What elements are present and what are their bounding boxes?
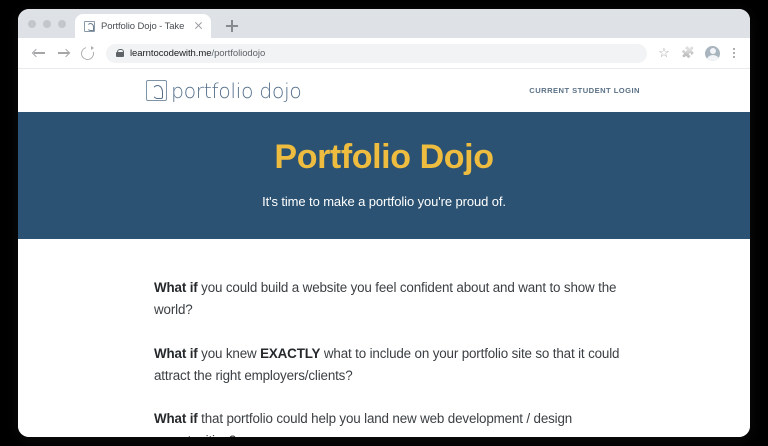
site-header: portfolio dojo CURRENT STUDENT LOGIN (18, 69, 750, 112)
tab-close-icon[interactable] (192, 20, 204, 32)
window-traffic-lights (26, 9, 75, 38)
three-dot-menu-icon[interactable] (726, 42, 742, 64)
page-title: Portfolio Dojo (58, 138, 710, 177)
portfolio-dojo-mark-icon (146, 80, 167, 101)
site-logo[interactable]: portfolio dojo (146, 79, 301, 103)
star-icon[interactable] (653, 42, 675, 64)
lock-icon (116, 49, 124, 58)
paragraph-mid: you knew (198, 346, 261, 361)
profile-avatar[interactable] (705, 46, 720, 61)
paragraph-lead: What if (154, 346, 198, 361)
browser-window: Portfolio Dojo - Take your port learntoc… (18, 9, 750, 437)
paragraph-emphasis: EXACTLY (260, 346, 320, 361)
paragraph-rest: that portfolio could help you land new w… (154, 411, 572, 437)
puzzle-piece-icon[interactable] (677, 42, 699, 64)
current-student-login-link[interactable]: CURRENT STUDENT LOGIN (529, 86, 640, 95)
paragraph-lead: What if (154, 411, 198, 426)
tab-favicon-icon (84, 21, 95, 32)
address-bar[interactable]: learntocodewith.me/portfoliodojo (106, 44, 647, 63)
browser-tab[interactable]: Portfolio Dojo - Take your port (75, 14, 211, 38)
url-domain: learntocodewith.me (130, 48, 211, 59)
copy-paragraph: What if you could build a website you fe… (154, 277, 622, 321)
url-path: /portfoliodojo (211, 48, 265, 59)
back-arrow-icon[interactable] (28, 42, 50, 64)
tab-strip: Portfolio Dojo - Take your port (18, 9, 750, 38)
browser-toolbar: learntocodewith.me/portfoliodojo (18, 38, 750, 69)
site-logo-text: portfolio dojo (171, 79, 301, 103)
paragraph-rest: you could build a website you feel confi… (154, 280, 616, 317)
maximize-window-button[interactable] (58, 20, 66, 28)
new-tab-button[interactable] (220, 14, 244, 38)
tab-title: Portfolio Dojo - Take your port (101, 21, 186, 32)
forward-arrow-icon[interactable] (52, 42, 74, 64)
close-window-button[interactable] (28, 20, 36, 28)
page-viewport: portfolio dojo CURRENT STUDENT LOGIN Por… (18, 69, 750, 437)
paragraph-lead: What if (154, 280, 198, 295)
hero-subtitle: It's time to make a portfolio you're pro… (58, 194, 710, 209)
copy-paragraph: What if that portfolio could help you la… (154, 408, 622, 437)
content-body: What if you could build a website you fe… (18, 239, 750, 437)
minimize-window-button[interactable] (43, 20, 51, 28)
copy-paragraph: What if you knew EXACTLY what to include… (154, 343, 622, 387)
reload-icon[interactable] (76, 42, 98, 64)
url-text: learntocodewith.me/portfoliodojo (130, 48, 265, 59)
hero-banner: Portfolio Dojo It's time to make a portf… (18, 112, 750, 239)
